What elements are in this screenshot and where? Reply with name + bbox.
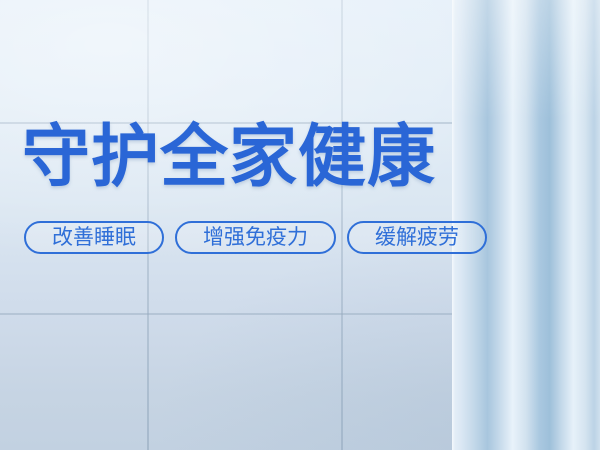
- benefit-tag-boost-immunity[interactable]: 增强免疫力: [175, 221, 336, 254]
- benefit-tag-row: 改善睡眠 增强免疫力 缓解疲劳: [24, 221, 487, 254]
- benefit-tag-relieve-fatigue[interactable]: 缓解疲劳: [347, 221, 487, 254]
- health-promo-banner: 守护全家健康 改善睡眠 增强免疫力 缓解疲劳: [0, 0, 600, 450]
- page-title: 守护全家健康: [22, 123, 436, 193]
- benefit-tag-improve-sleep[interactable]: 改善睡眠: [24, 221, 164, 254]
